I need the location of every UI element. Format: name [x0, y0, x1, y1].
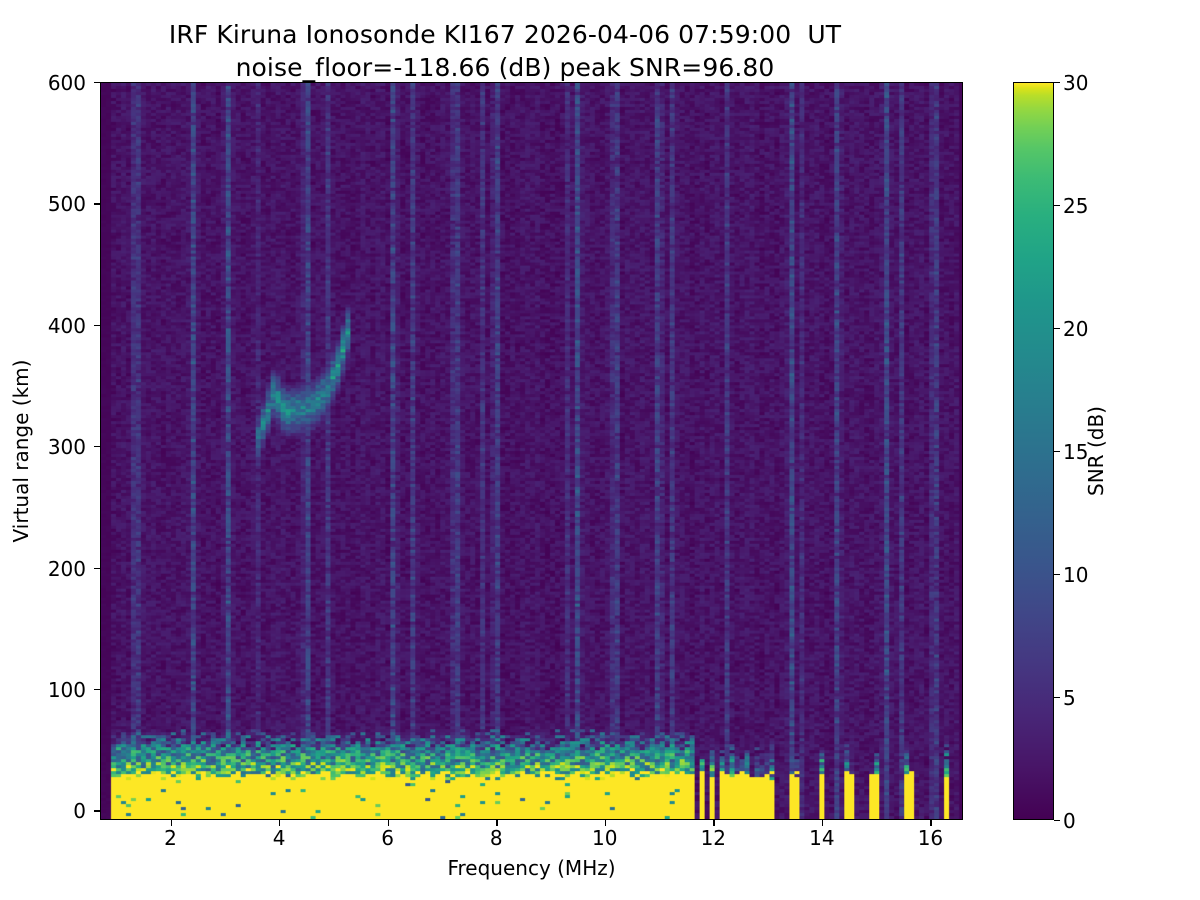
y-tick-mark [94, 325, 100, 326]
x-tick-label: 2 [164, 826, 177, 850]
ionogram-figure: IRF Kiruna Ionosonde KI167 2026-04-06 07… [0, 0, 1200, 900]
colorbar-tick-mark [1054, 574, 1060, 575]
colorbar-tick-mark [1054, 820, 1060, 821]
y-tick-mark [94, 446, 100, 447]
y-tick-mark [94, 82, 100, 83]
x-tick-label: 6 [381, 826, 394, 850]
colorbar-tick-label: 30 [1063, 71, 1088, 95]
y-tick-mark [94, 203, 100, 204]
x-tick-label: 10 [592, 826, 617, 850]
x-axis-label: Frequency (MHz) [100, 856, 963, 880]
y-tick-label: 500 [24, 192, 86, 216]
x-tick-label: 12 [701, 826, 726, 850]
ionogram-heatmap-canvas [101, 83, 962, 819]
colorbar-tick-label: 0 [1063, 809, 1076, 833]
colorbar-tick-label: 25 [1063, 194, 1088, 218]
colorbar-tick-mark [1054, 205, 1060, 206]
y-tick-mark [94, 689, 100, 690]
colorbar-tick-mark [1054, 82, 1060, 83]
colorbar-tick-mark [1054, 451, 1060, 452]
ionogram-plot-area [100, 82, 963, 820]
colorbar-label: SNR (dB) [1084, 406, 1108, 496]
y-tick-mark [94, 568, 100, 569]
y-tick-label: 300 [24, 435, 86, 459]
colorbar-tick-mark [1054, 697, 1060, 698]
colorbar-tick-label: 5 [1063, 686, 1076, 710]
colorbar-tick-mark [1054, 328, 1060, 329]
y-tick-label: 600 [24, 71, 86, 95]
colorbar-tick-label: 10 [1063, 563, 1088, 587]
figure-title-line-1: IRF Kiruna Ionosonde KI167 2026-04-06 07… [0, 18, 1010, 51]
y-tick-label: 100 [24, 678, 86, 702]
y-tick-mark [94, 810, 100, 811]
y-tick-label: 400 [24, 314, 86, 338]
colorbar-tick-label: 20 [1063, 317, 1088, 341]
colorbar [1013, 82, 1054, 820]
y-tick-label: 200 [24, 557, 86, 581]
y-tick-label: 0 [24, 799, 86, 823]
figure-title-line-2: noise_floor=-118.66 (dB) peak SNR=96.80 [0, 51, 1010, 84]
x-tick-label: 14 [809, 826, 834, 850]
x-tick-label: 8 [490, 826, 503, 850]
x-tick-label: 16 [918, 826, 943, 850]
x-tick-label: 4 [273, 826, 286, 850]
